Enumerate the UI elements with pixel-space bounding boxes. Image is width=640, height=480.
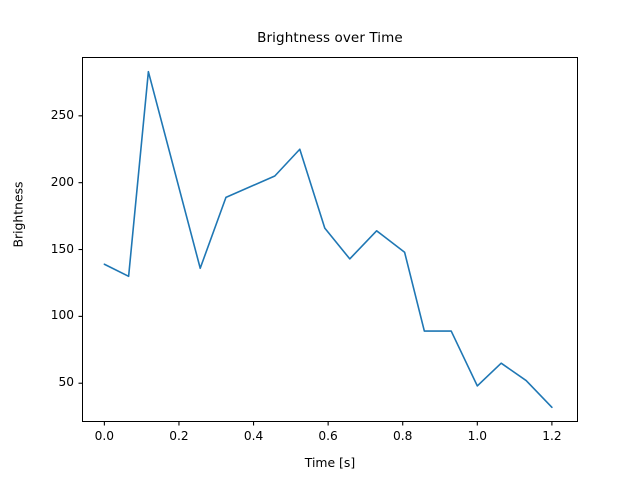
y-axis-label: Brightness bbox=[11, 135, 26, 295]
x-tick-label: 0.8 bbox=[373, 429, 433, 443]
x-tick-label: 0.6 bbox=[298, 429, 358, 443]
y-tick-label: 250 bbox=[14, 108, 74, 122]
x-axis-ticks bbox=[104, 422, 552, 426]
x-tick-label: 1.0 bbox=[447, 429, 507, 443]
chart-title: Brightness over Time bbox=[82, 30, 578, 46]
y-tick-label: 100 bbox=[14, 308, 74, 322]
y-tick-label: 50 bbox=[14, 375, 74, 389]
x-tick-label: 1.2 bbox=[522, 429, 582, 443]
axes-frame bbox=[82, 57, 578, 422]
x-tick-label: 0.0 bbox=[74, 429, 134, 443]
x-tick-label: 0.4 bbox=[224, 429, 284, 443]
figure-canvas: Brightness over Time 50100150200250 0.00… bbox=[0, 0, 640, 480]
x-axis-label: Time [s] bbox=[82, 455, 578, 470]
x-tick-label: 0.2 bbox=[149, 429, 209, 443]
